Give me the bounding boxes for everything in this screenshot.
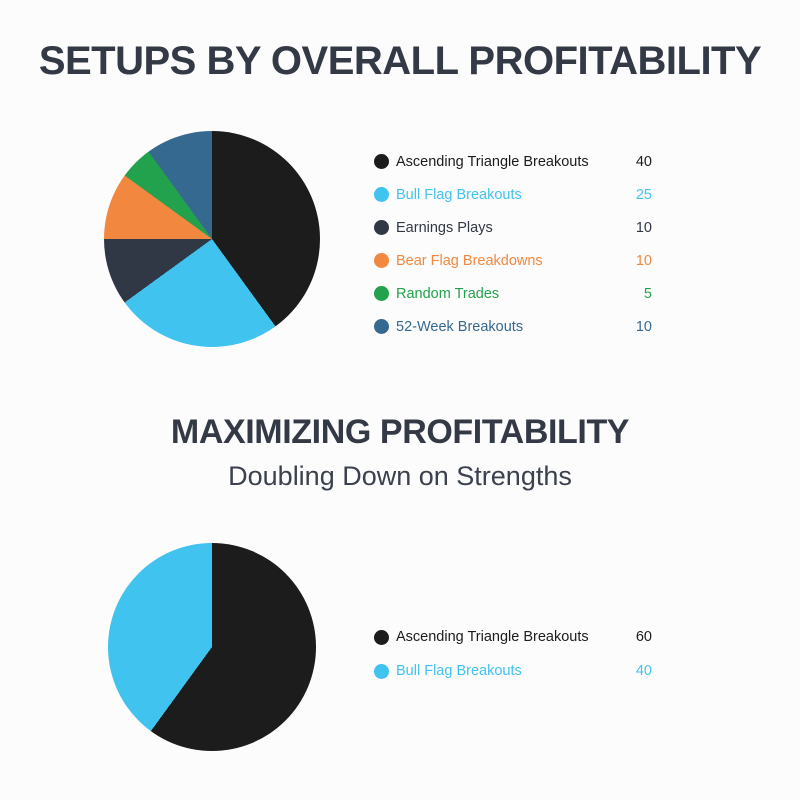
legend-item-label: Ascending Triangle Breakouts [396,629,618,645]
pie-chart-maximizing-profitability [108,543,316,751]
legend-item[interactable]: 52-Week Breakouts10 [374,310,652,343]
legend-swatch-icon [374,154,389,169]
section-subtitle-doubling-down-on-strengths: Doubling Down on Strengths [0,461,800,492]
legend-item-label: Earnings Plays [396,220,618,236]
legend-swatch-icon [374,286,389,301]
legend-swatch-icon [374,630,389,645]
legend-item[interactable]: Bull Flag Breakouts25 [374,178,652,211]
section-title-maximizing-profitability: MAXIMIZING PROFITABILITY [0,413,800,452]
legend-setups-by-overall-profitability: Ascending Triangle Breakouts40Bull Flag … [374,145,652,343]
legend-item[interactable]: Earnings Plays10 [374,211,652,244]
legend-item-value: 10 [618,319,652,335]
legend-maximizing-profitability: Ascending Triangle Breakouts60Bull Flag … [374,620,652,688]
legend-item-value: 40 [618,154,652,170]
legend-swatch-icon [374,220,389,235]
legend-item-label: Random Trades [396,286,618,302]
legend-item-label: Bull Flag Breakouts [396,663,618,679]
legend-swatch-icon [374,319,389,334]
legend-item-value: 5 [618,286,652,302]
page-title-setups-by-overall-profitability: SETUPS BY OVERALL PROFITABILITY [0,39,800,84]
legend-swatch-icon [374,253,389,268]
legend-item-value: 25 [618,187,652,203]
legend-item[interactable]: Random Trades5 [374,277,652,310]
legend-swatch-icon [374,187,389,202]
legend-item-value: 60 [618,629,652,645]
legend-item-label: Ascending Triangle Breakouts [396,154,618,170]
legend-item-value: 10 [618,220,652,236]
legend-item-value: 40 [618,663,652,679]
legend-item[interactable]: Ascending Triangle Breakouts40 [374,145,652,178]
legend-item[interactable]: Bear Flag Breakdowns10 [374,244,652,277]
legend-item-label: Bear Flag Breakdowns [396,253,618,269]
pie-chart-setups-by-overall-profitability [104,131,320,347]
legend-item-label: Bull Flag Breakouts [396,187,618,203]
legend-item-value: 10 [618,253,652,269]
legend-swatch-icon [374,664,389,679]
legend-item[interactable]: Bull Flag Breakouts40 [374,654,652,688]
legend-item-label: 52-Week Breakouts [396,319,618,335]
legend-item[interactable]: Ascending Triangle Breakouts60 [374,620,652,654]
